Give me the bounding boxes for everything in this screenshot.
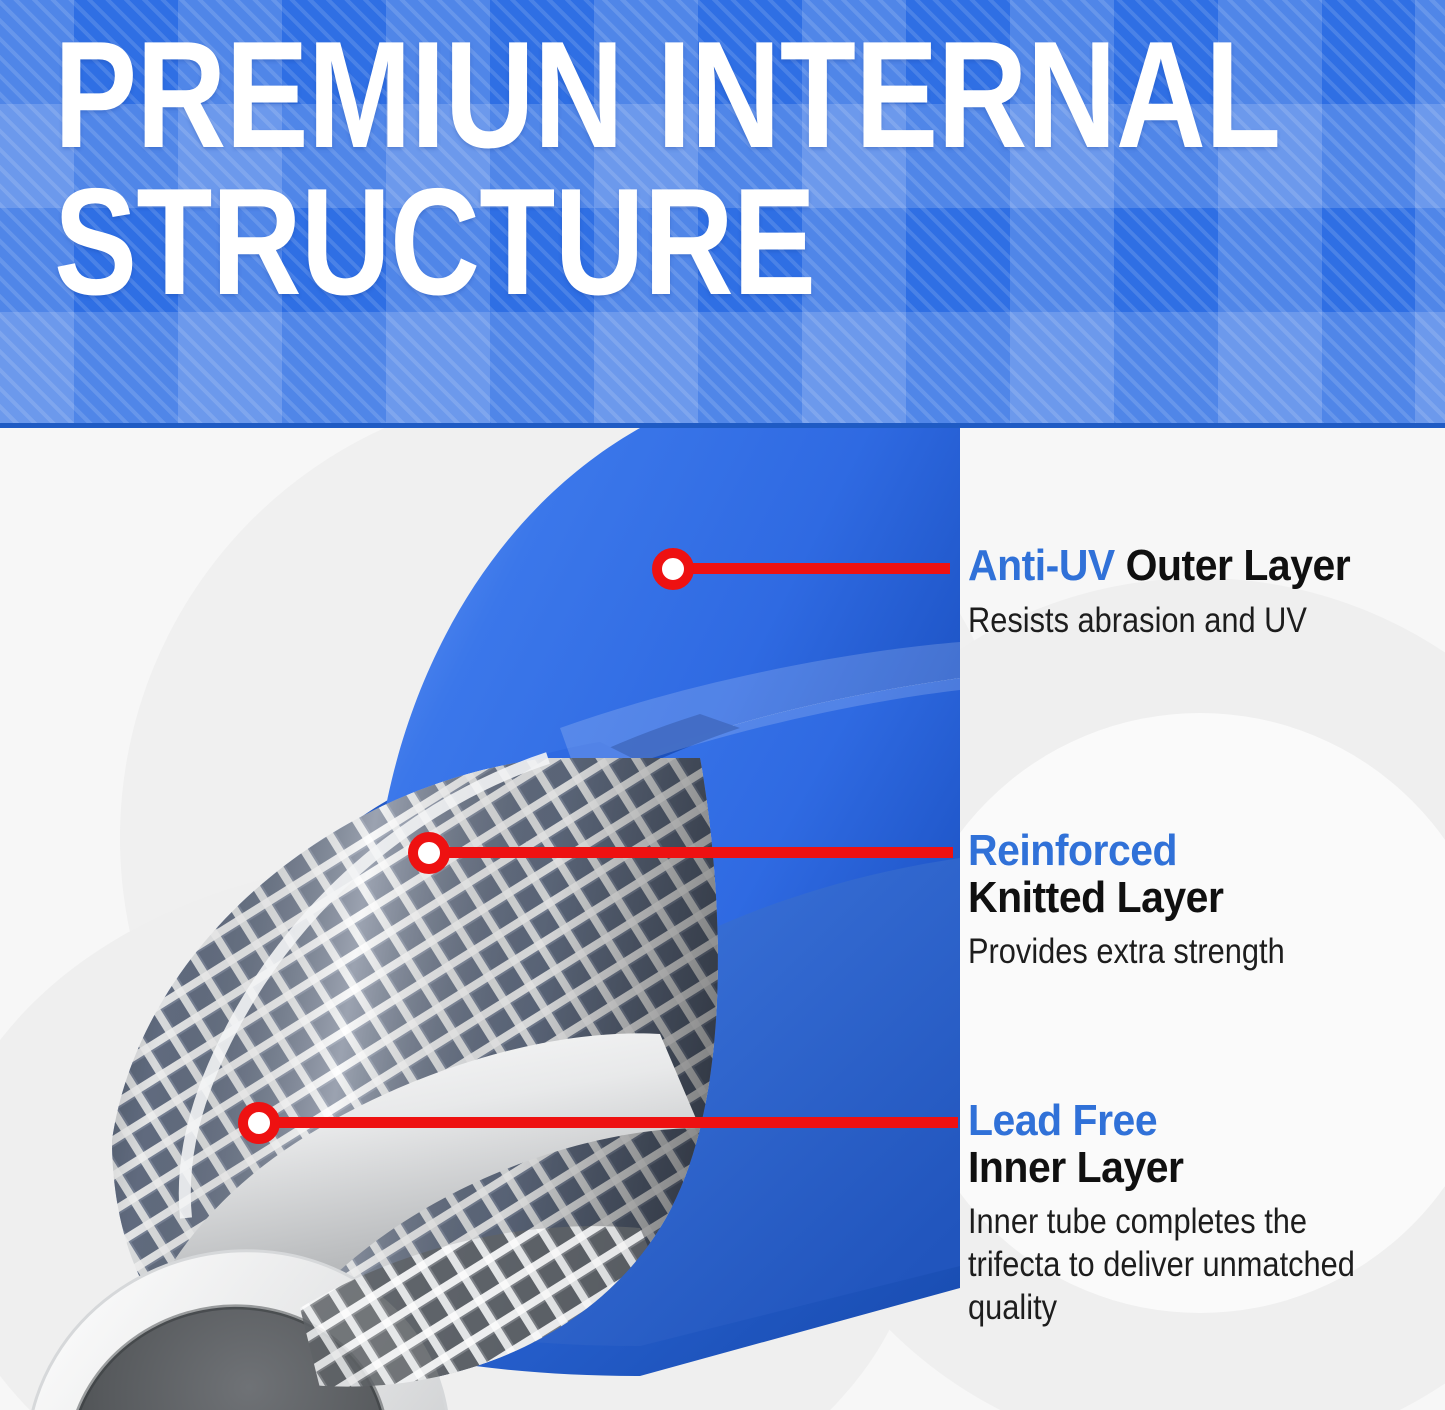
callout-marker-inner-layer-icon[interactable] [238,1102,280,1144]
callout-lead-free-inner-layer: Lead Free Inner Layer Inner tube complet… [968,1098,1438,1329]
callout-1-title-highlight: Anti-UV [968,541,1126,590]
callout-2-title-highlight: Reinforced [968,826,1177,875]
page-title-line-2: STRUCTURE [54,169,1169,316]
callout-1-title-rest: Outer Layer [1126,541,1351,590]
page-title: PREMIUN INTERNAL STRUCTURE [54,22,1169,317]
infographic-poster: PREMIUN INTERNAL STRUCTURE [0,0,1445,1410]
leader-bar-inner-layer [258,1117,958,1128]
callout-marker-outer-layer-icon[interactable] [652,548,694,590]
callout-3-title-highlight: Lead Free [968,1096,1157,1145]
callout-marker-knitted-layer-icon[interactable] [408,832,450,874]
callout-1-title: Anti-UV Outer Layer [968,543,1405,590]
leader-bar-knitted-layer [428,847,953,858]
callout-3-title-second-line: Inner Layer [968,1145,1405,1192]
callout-2-subtitle: Provides extra strength [968,931,1382,974]
hose-cross-section-illustration [0,428,960,1410]
callout-anti-uv-outer-layer: Anti-UV Outer Layer Resists abrasion and… [968,543,1438,642]
callout-reinforced-knitted-layer: Reinforced Knitted Layer Provides extra … [968,828,1438,974]
leader-bar-outer-layer [672,563,950,574]
callout-2-title: Reinforced [968,828,1405,875]
page-title-line-1: PREMIUN INTERNAL [54,10,1280,180]
callout-3-title: Lead Free [968,1098,1405,1145]
callout-2-title-second-line: Knitted Layer [968,875,1405,922]
callout-3-subtitle: Inner tube completes the trifecta to del… [968,1201,1382,1329]
callout-1-subtitle: Resists abrasion and UV [968,600,1382,643]
header-banner: PREMIUN INTERNAL STRUCTURE [0,0,1445,428]
